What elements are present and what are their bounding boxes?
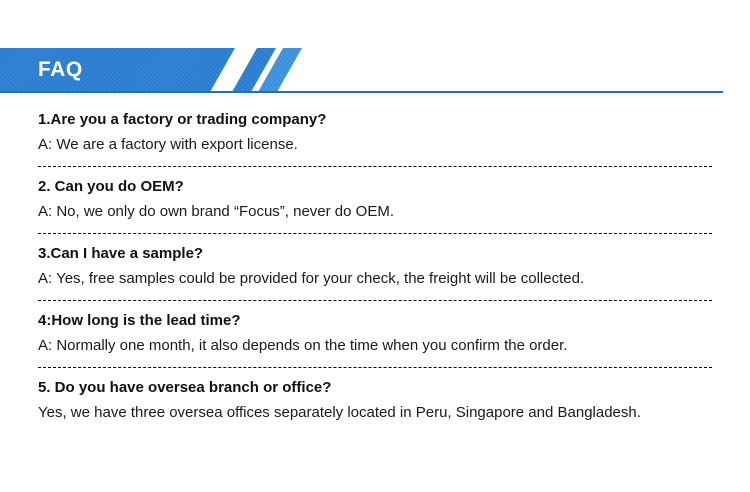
faq-list: 1.Are you a factory or trading company? …: [38, 108, 712, 425]
page-title: FAQ: [38, 57, 83, 83]
faq-answer-3: A: Yes, free samples could be provided f…: [38, 266, 712, 291]
faq-question-2: 2. Can you do OEM?: [38, 175, 712, 199]
faq-answer-4: A: Normally one month, it also depends o…: [38, 333, 712, 358]
faq-divider-3: [38, 300, 712, 301]
faq-item-1: 1.Are you a factory or trading company? …: [38, 108, 712, 157]
faq-item-2: 2. Can you do OEM? A: No, we only do own…: [38, 175, 712, 224]
faq-item-5: 5. Do you have oversea branch or office?…: [38, 376, 712, 425]
faq-item-4: 4:How long is the lead time? A: Normally…: [38, 309, 712, 358]
faq-answer-2: A: No, we only do own brand “Focus”, nev…: [38, 199, 712, 224]
faq-answer-1: A: We are a factory with export license.: [38, 132, 712, 157]
faq-divider-1: [38, 166, 712, 167]
banner-baseline-rule: [0, 91, 723, 93]
faq-header-banner: FAQ: [0, 48, 750, 94]
faq-page: FAQ 1.Are you a factory or trading compa…: [0, 0, 750, 492]
faq-question-1: 1.Are you a factory or trading company?: [38, 108, 712, 132]
faq-question-4: 4:How long is the lead time?: [38, 309, 712, 333]
faq-answer-5: Yes, we have three oversea offices separ…: [38, 400, 712, 425]
faq-divider-2: [38, 233, 712, 234]
faq-question-5: 5. Do you have oversea branch or office?: [38, 376, 712, 400]
faq-divider-4: [38, 367, 712, 368]
faq-item-3: 3.Can I have a sample? A: Yes, free samp…: [38, 242, 712, 291]
faq-question-3: 3.Can I have a sample?: [38, 242, 712, 266]
